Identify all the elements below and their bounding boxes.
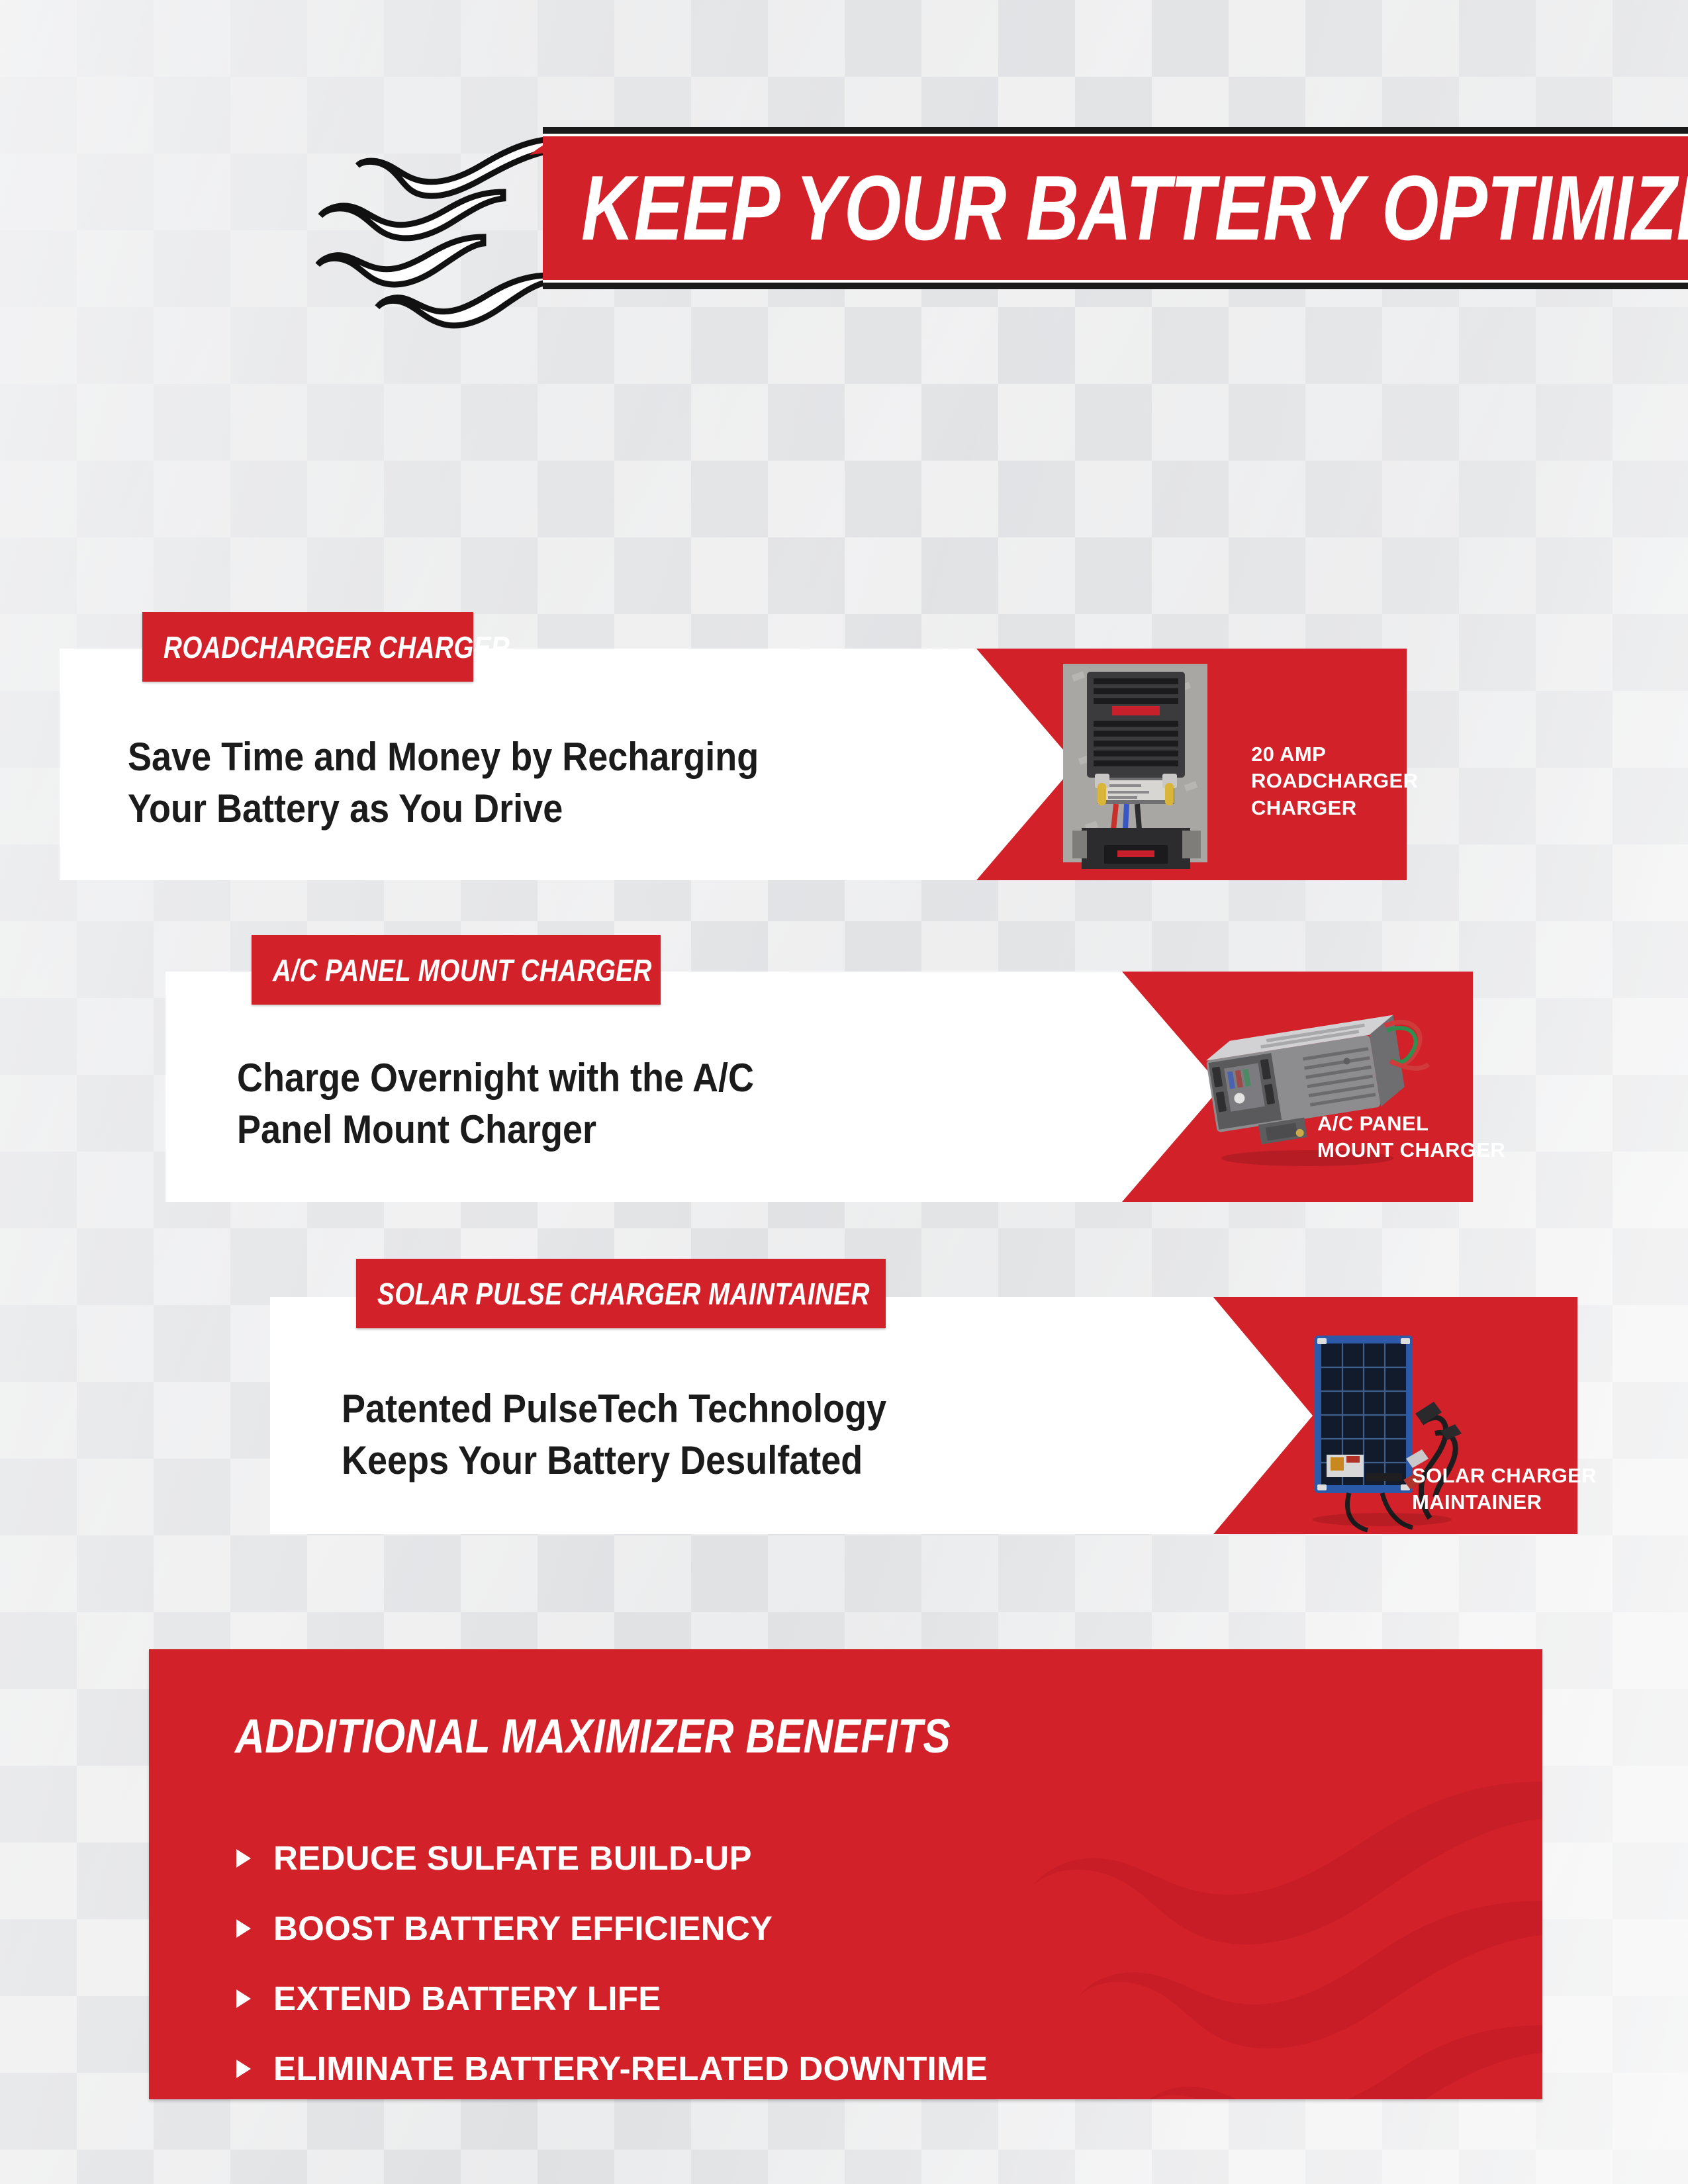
product-label-line-2: ROADCHARGER — [1251, 768, 1418, 794]
product-tag-label: SOLAR PULSE CHARGER MAINTAINER — [377, 1279, 870, 1309]
product-label-line-2: MOUNT CHARGER — [1317, 1137, 1505, 1163]
benefit-item: EXTEND BATTERY LIFE — [236, 1981, 661, 2015]
benefits-title: ADDITIONAL MAXIMIZER BENEFITS — [235, 1713, 951, 1760]
benefit-label: EXTEND BATTERY LIFE — [273, 1981, 661, 2015]
header-banner: KEEP YOUR BATTERY OPTIMIZED — [0, 113, 1688, 331]
benefit-label: REDUCE SULFATE BUILD-UP — [273, 1841, 752, 1875]
benefit-item: ELIMINATE BATTERY-RELATED DOWNTIME — [236, 2052, 988, 2085]
triangle-right-icon — [236, 2060, 251, 2078]
product-label-line-3: CHARGER — [1251, 795, 1418, 821]
product-headline-line-2: Panel Mount Charger — [237, 1104, 754, 1156]
product-tag-ac-panel: A/C PANEL MOUNT CHARGER — [252, 935, 661, 1005]
banner-plate: KEEP YOUR BATTERY OPTIMIZED — [543, 127, 1688, 289]
benefit-item: REDUCE SULFATE BUILD-UP — [236, 1841, 752, 1875]
benefit-label: ELIMINATE BATTERY-RELATED DOWNTIME — [273, 2052, 988, 2085]
product-photo-label: 20 AMP ROADCHARGER CHARGER — [1251, 741, 1418, 821]
triangle-right-icon — [236, 1849, 251, 1868]
product-headline: Save Time and Money by Recharging Your B… — [128, 731, 759, 835]
product-headline: Charge Overnight with the A/C Panel Moun… — [237, 1052, 754, 1156]
product-label-line-1: A/C PANEL — [1317, 1111, 1505, 1137]
additional-benefits-panel: ADDITIONAL MAXIMIZER BENEFITS REDUCE SUL… — [149, 1649, 1542, 2099]
product-tag-label: A/C PANEL MOUNT CHARGER — [273, 955, 652, 985]
product-card-roadcharger: ROADCHARGER CHARGER Save Time and Money … — [60, 649, 1407, 880]
product-label-line-2: MAINTAINER — [1412, 1489, 1597, 1516]
triangle-right-icon — [236, 1919, 251, 1938]
product-tag-roadcharger: ROADCHARGER CHARGER — [142, 612, 473, 682]
product-headline: Patented PulseTech Technology Keeps Your… — [342, 1383, 886, 1486]
product-tag-label: ROADCHARGER CHARGER — [164, 632, 510, 662]
product-headline-line-1: Patented PulseTech Technology — [342, 1383, 886, 1435]
benefit-label: BOOST BATTERY EFFICIENCY — [273, 1911, 773, 1945]
product-label-line-1: SOLAR CHARGER — [1412, 1463, 1597, 1489]
product-card-ac-panel: A/C PANEL MOUNT CHARGER Charge Overnight… — [165, 972, 1473, 1202]
product-headline-line-2: Keeps Your Battery Desulfated — [342, 1435, 886, 1486]
product-photo-label: A/C PANEL MOUNT CHARGER — [1317, 1111, 1505, 1164]
product-tag-solar: SOLAR PULSE CHARGER MAINTAINER — [356, 1259, 886, 1328]
product-headline-line-1: Save Time and Money by Recharging — [128, 731, 759, 783]
product-photo-label: SOLAR CHARGER MAINTAINER — [1412, 1463, 1597, 1516]
roadcharger-product-photo — [1046, 657, 1225, 869]
benefit-item: BOOST BATTERY EFFICIENCY — [236, 1911, 773, 1945]
product-card-solar: SOLAR PULSE CHARGER MAINTAINER Patented … — [270, 1297, 1577, 1534]
product-headline-line-2: Your Battery as You Drive — [128, 783, 759, 835]
product-label-line-1: 20 AMP — [1251, 741, 1418, 768]
page-title: KEEP YOUR BATTERY OPTIMIZED — [581, 162, 1688, 254]
triangle-right-icon — [236, 1989, 251, 2008]
product-headline-line-1: Charge Overnight with the A/C — [237, 1052, 754, 1104]
poster-page: KEEP YOUR BATTERY OPTIMIZED ROADCHARGER … — [0, 0, 1688, 2184]
